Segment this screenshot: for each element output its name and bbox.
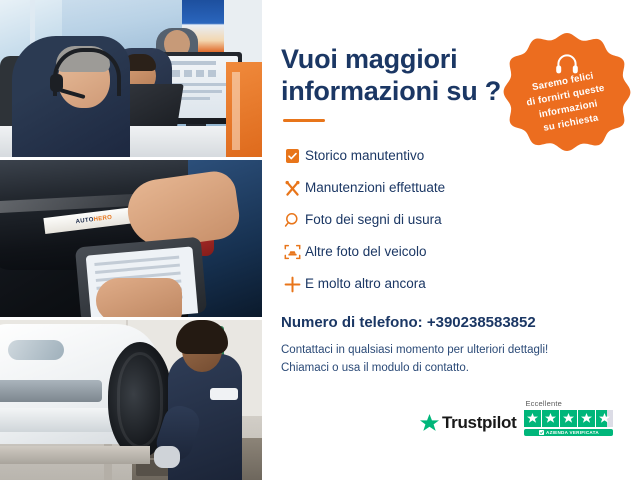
trustpilot-brand: Trustpilot [442, 413, 516, 433]
contact-subtext: Contattaci in qualsiasi momento per ulte… [281, 341, 581, 378]
car-photo-frame-icon [279, 244, 305, 260]
phone-line: Numero di telefono: +390238583852 [281, 314, 536, 331]
work-glove [154, 446, 180, 468]
verified-check-icon [539, 430, 544, 435]
rating-word: Eccellente [525, 399, 562, 408]
star-rating [524, 410, 613, 427]
ruler-brand-hero: HERO [93, 215, 112, 223]
feature-item-storico: Storico manutentivo [279, 142, 519, 170]
inspector-hand-lower [96, 278, 182, 317]
star-1 [524, 410, 541, 427]
trustpilot-rating: Eccellente AZIENDA VERIFICATA [524, 399, 613, 436]
star-3 [560, 410, 577, 427]
workshop-technician-photo [0, 320, 262, 480]
magnifier-icon [279, 212, 305, 228]
star-2 [542, 410, 559, 427]
content-panel: Vuoi maggiori informazioni su ? Storico … [262, 0, 640, 480]
phone-number[interactable]: +390238583852 [427, 314, 536, 331]
contact-info-banner: AUTOHERO [0, 0, 640, 480]
feature-item-manutenzioni: Manutenzioni effettuate [279, 174, 519, 202]
feature-item-altro-ancora: E molto altro ancora [279, 270, 519, 298]
clipboard-check-icon [279, 148, 305, 164]
uniform-logo [210, 388, 238, 400]
car-inspection-photo: AUTOHERO [0, 160, 262, 317]
verified-business-badge: AZIENDA VERIFICATA [524, 429, 613, 436]
technician [168, 354, 242, 480]
contact-subtext-line-2: Chiamaci o usa il modulo di contatto. [281, 359, 581, 377]
title-divider [283, 119, 325, 122]
call-center-agents-photo [0, 0, 262, 157]
agent-foreground [12, 36, 130, 157]
verified-label: AZIENDA VERIFICATA [546, 430, 599, 435]
star-4 [578, 410, 595, 427]
ruler-brand-auto: AUTO [75, 217, 94, 225]
trustpilot-widget[interactable]: Trustpilot Eccellente AZIENDA VERIFICA [420, 399, 613, 436]
photo-column: AUTOHERO [0, 0, 262, 480]
lift-platform [0, 446, 150, 464]
plus-icon [279, 276, 305, 293]
page-title: Vuoi maggiori informazioni su ? [281, 44, 531, 107]
feature-item-altre-foto: Altre foto del veicolo [279, 238, 519, 266]
callout-badge: Saremo felici di fornirti queste informa… [503, 31, 631, 159]
contact-subtext-line-1: Contattaci in qualsiasi momento per ulte… [281, 341, 581, 359]
feature-label: Altre foto del veicolo [305, 245, 427, 259]
feature-label: Manutenzioni effettuate [305, 181, 445, 195]
star-5-partial [596, 410, 613, 427]
trustpilot-logo[interactable]: Trustpilot [420, 413, 516, 436]
heading-line-1: Vuoi maggiori [281, 44, 531, 76]
orange-signage [226, 62, 262, 157]
heading-line-2: informazioni su ? [281, 76, 531, 108]
feature-label: Foto dei segni di usura [305, 213, 442, 227]
feature-list: Storico manutentivo Manutenzioni effettu… [279, 142, 519, 302]
feature-label: E molto altro ancora [305, 277, 426, 291]
phone-label: Numero di telefono: [281, 314, 423, 331]
feature-label: Storico manutentivo [305, 149, 424, 163]
trustpilot-star-icon [420, 414, 439, 433]
tools-cross-icon [279, 180, 305, 197]
feature-item-foto-usura: Foto dei segni di usura [279, 206, 519, 234]
